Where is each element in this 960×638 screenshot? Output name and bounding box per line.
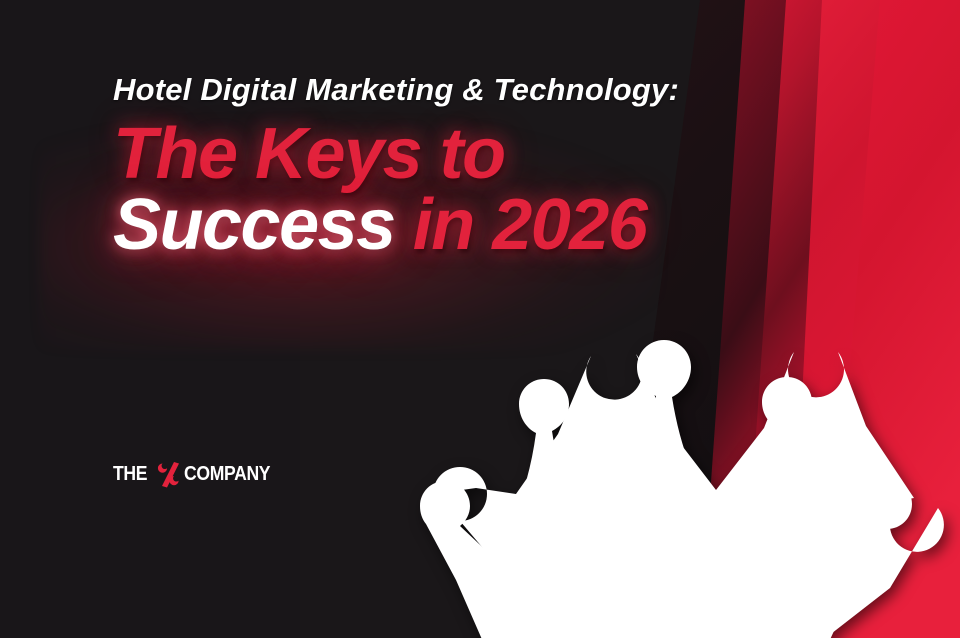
- headline-group: Hotel Digital Marketing & Technology: Th…: [113, 72, 873, 260]
- percent-slash-icon: [151, 459, 185, 489]
- eyebrow-text: Hotel Digital Marketing & Technology:: [113, 72, 873, 109]
- headline-word-year: in 2026: [395, 185, 647, 265]
- headline-line-1: The Keys to: [113, 120, 873, 189]
- logo-word-company: COMPANY: [184, 464, 270, 484]
- headline-text: The Keys to Successin 2026: [113, 120, 873, 260]
- headline-line-2: Successin 2026: [113, 191, 873, 260]
- logo-word-the: THE: [113, 464, 147, 484]
- promo-banner: Hotel Digital Marketing & Technology: Th…: [0, 0, 960, 638]
- company-logo[interactable]: THE COMPANY: [113, 459, 282, 489]
- headline-word-success: Success: [113, 185, 395, 265]
- crown-icon: [398, 258, 960, 638]
